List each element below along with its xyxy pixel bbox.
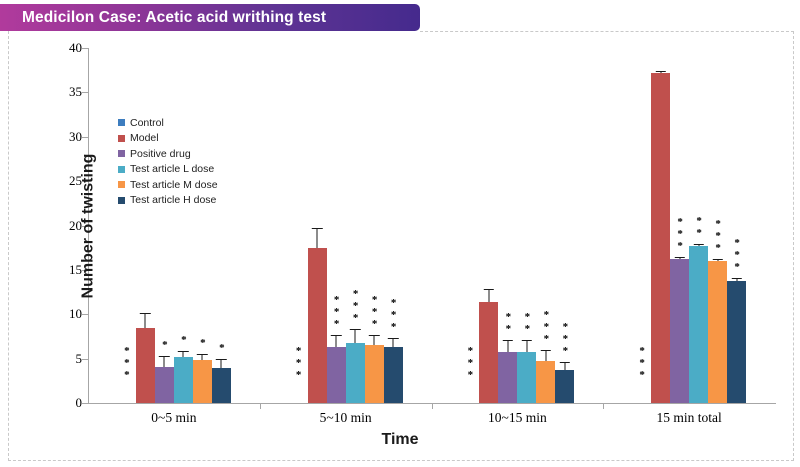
significance-marker: *** <box>712 218 723 254</box>
x-category-label: 5~10 min <box>260 410 432 426</box>
error-bar <box>393 339 394 347</box>
bar[interactable] <box>479 302 498 403</box>
header-banner: Medicilon Case: Acetic acid writhing tes… <box>0 4 420 31</box>
legend-label: Test article L dose <box>130 163 214 175</box>
legend-item[interactable]: Positive drug <box>118 146 218 162</box>
category-separator <box>432 403 433 409</box>
error-bar-cap <box>522 340 532 341</box>
error-bar-cap <box>312 228 322 229</box>
bar-slot: ** <box>689 48 708 403</box>
error-bar-cap <box>484 289 494 290</box>
legend-swatch-icon <box>118 197 125 204</box>
bar-group: ************* <box>432 48 604 403</box>
error-bar-cap <box>731 278 741 279</box>
legend-item[interactable]: Control <box>118 115 218 131</box>
bar[interactable] <box>517 352 536 403</box>
bar-group-bars: *************** <box>289 48 403 403</box>
error-bar-cap <box>541 350 551 351</box>
error-bar <box>660 72 661 73</box>
error-bar <box>564 363 565 370</box>
bar[interactable] <box>689 246 708 403</box>
error-bar <box>698 245 699 246</box>
significance-marker: *** <box>731 237 742 273</box>
error-bar <box>145 314 146 328</box>
significance-marker: * <box>197 337 208 349</box>
legend-swatch-icon <box>118 119 125 126</box>
bar-slot: * <box>174 48 193 403</box>
error-bar-cap <box>216 359 226 360</box>
banner-title: Medicilon Case: Acetic acid writhing tes… <box>22 9 326 27</box>
bar[interactable] <box>555 370 574 403</box>
bar[interactable] <box>346 343 365 403</box>
bar-slot: *** <box>117 48 136 403</box>
plot-area: 0510152025303540 Number of twisting ****… <box>88 48 775 403</box>
y-tick-label: 0 <box>52 395 82 411</box>
bar[interactable] <box>212 368 231 403</box>
category-separator <box>260 403 261 409</box>
error-bar <box>183 352 184 357</box>
y-tick-label: 20 <box>52 218 82 234</box>
legend-label: Control <box>130 117 164 129</box>
significance-marker: *** <box>293 345 304 381</box>
error-bar-cap <box>331 335 341 336</box>
bar-slot: *** <box>365 48 384 403</box>
bar-slot: *** <box>460 48 479 403</box>
significance-marker: *** <box>350 288 361 324</box>
x-axis-title: Time <box>0 431 800 449</box>
bar[interactable] <box>365 345 384 403</box>
error-bar-cap <box>178 351 188 352</box>
significance-marker: *** <box>331 294 342 330</box>
bar[interactable] <box>384 347 403 403</box>
bar-slot: * <box>155 48 174 403</box>
bar-slot: ** <box>517 48 536 403</box>
bar-slot: *** <box>708 48 727 403</box>
significance-marker: *** <box>559 321 570 357</box>
legend-swatch-icon <box>118 166 125 173</box>
bar[interactable] <box>327 347 346 403</box>
bar-group-bars: ************** <box>632 48 746 403</box>
bar-slot: *** <box>632 48 651 403</box>
legend-swatch-icon <box>118 150 125 157</box>
error-bar <box>717 260 718 261</box>
y-tick-mark <box>82 403 88 404</box>
legend-label: Test article H dose <box>130 194 216 206</box>
bar-slot: *** <box>727 48 746 403</box>
bar[interactable] <box>174 357 193 403</box>
bar[interactable] <box>155 367 174 403</box>
error-bar-cap <box>388 338 398 339</box>
y-tick-label: 15 <box>52 262 82 278</box>
bar-slot <box>308 48 327 403</box>
bar-group: ******* <box>88 48 260 403</box>
significance-marker: * <box>178 334 189 346</box>
error-bar <box>526 341 527 353</box>
legend-item[interactable]: Test article M dose <box>118 177 218 193</box>
error-bar-cap <box>140 313 150 314</box>
legend-item[interactable]: Model <box>118 131 218 147</box>
y-tick-label: 10 <box>52 306 82 322</box>
bar-slot: * <box>212 48 231 403</box>
bar[interactable] <box>308 248 327 403</box>
legend-swatch-icon <box>118 135 125 142</box>
legend-label: Model <box>130 132 159 144</box>
significance-marker: *** <box>636 345 647 381</box>
error-bar <box>355 330 356 342</box>
significance-marker: ** <box>502 311 513 335</box>
y-tick-label: 25 <box>52 173 82 189</box>
error-bar <box>336 336 337 348</box>
significance-marker: *** <box>540 309 551 345</box>
x-category-label: 0~5 min <box>88 410 260 426</box>
y-tick-label: 40 <box>52 40 82 56</box>
bar[interactable] <box>727 281 746 403</box>
error-bar-cap <box>712 259 722 260</box>
error-bar <box>317 229 318 248</box>
error-bar <box>736 279 737 280</box>
error-bar <box>545 351 546 362</box>
bar-slot: *** <box>289 48 308 403</box>
significance-marker: * <box>216 342 227 354</box>
bar-slot: *** <box>555 48 574 403</box>
error-bar <box>507 341 508 352</box>
bar-slot: * <box>193 48 212 403</box>
bar-slot: *** <box>670 48 689 403</box>
significance-marker: ** <box>521 311 532 335</box>
bar-group-bars: ************* <box>460 48 574 403</box>
error-bar-cap <box>159 356 169 357</box>
significance-marker: *** <box>369 294 380 330</box>
error-bar <box>221 360 222 368</box>
error-bar-cap <box>674 257 684 258</box>
bar-slot: *** <box>384 48 403 403</box>
legend-label: Test article M dose <box>130 179 218 191</box>
bar-slot <box>479 48 498 403</box>
legend-label: Positive drug <box>130 148 191 160</box>
banner-background: Medicilon Case: Acetic acid writhing tes… <box>0 4 420 31</box>
y-tick-label: 5 <box>52 351 82 367</box>
significance-marker: * <box>159 339 170 351</box>
bar-slot: ** <box>498 48 517 403</box>
bar-slot <box>651 48 670 403</box>
x-category-label: 10~15 min <box>432 410 604 426</box>
error-bar <box>679 258 680 259</box>
error-bar-cap <box>655 71 665 72</box>
bar[interactable] <box>670 259 689 403</box>
error-bar-cap <box>560 362 570 363</box>
y-axis-ticks: 0510152025303540 <box>48 48 82 404</box>
error-bar-cap <box>503 340 513 341</box>
significance-marker: *** <box>388 297 399 333</box>
y-tick-label: 35 <box>52 84 82 100</box>
error-bar <box>488 290 489 302</box>
error-bar-cap <box>350 329 360 330</box>
significance-marker: *** <box>464 345 475 381</box>
error-bar <box>374 336 375 345</box>
y-tick-label: 30 <box>52 129 82 145</box>
bar-slot <box>136 48 155 403</box>
chart-figure: Acetic acid writhing test in mice 051015… <box>0 31 800 467</box>
significance-marker: ** <box>693 215 704 239</box>
bar-slot: *** <box>327 48 346 403</box>
bar-slot: *** <box>536 48 555 403</box>
bar[interactable] <box>498 352 517 403</box>
error-bar <box>164 357 165 367</box>
bar-slot: *** <box>346 48 365 403</box>
bar-group: *************** <box>260 48 432 403</box>
bar[interactable] <box>708 261 727 403</box>
legend-item[interactable]: Test article L dose <box>118 162 218 178</box>
legend-swatch-icon <box>118 181 125 188</box>
legend-item[interactable]: Test article H dose <box>118 193 218 209</box>
bar[interactable] <box>193 360 212 403</box>
significance-marker: *** <box>674 216 685 252</box>
bar[interactable] <box>651 73 670 403</box>
error-bar <box>202 355 203 360</box>
significance-marker: *** <box>121 345 132 381</box>
bar-group-bars: ******* <box>117 48 231 403</box>
error-bar-cap <box>369 335 379 336</box>
x-category-label: 15 min total <box>603 410 775 426</box>
error-bar-cap <box>197 354 207 355</box>
bar[interactable] <box>536 361 555 403</box>
error-bar-cap <box>693 244 703 245</box>
chart-legend: ControlModelPositive drugTest article L … <box>118 115 218 208</box>
bar[interactable] <box>136 328 155 403</box>
category-separator <box>603 403 604 409</box>
bar-group: ************** <box>603 48 775 403</box>
